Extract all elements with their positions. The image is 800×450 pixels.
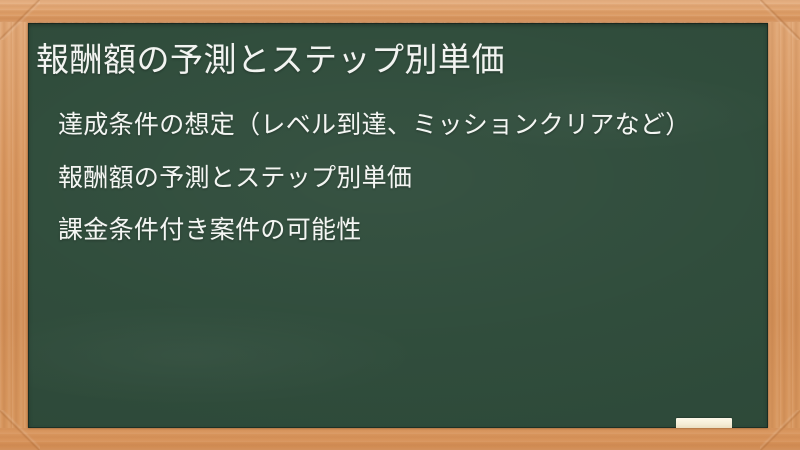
slide-title: 報酬額の予測とステップ別単価 — [36, 39, 736, 81]
bullet-list: 達成条件の想定（レベル到達、ミッションクリアなど） 報酬額の予測とステップ別単価… — [58, 109, 742, 247]
chalkboard-surface: 報酬額の予測とステップ別単価 達成条件の想定（レベル到達、ミッションクリアなど）… — [28, 23, 768, 428]
list-item: 達成条件の想定（レベル到達、ミッションクリアなど） — [58, 109, 742, 142]
frame-rail-top — [0, 0, 800, 22]
list-item: 報酬額の予測とステップ別単価 — [58, 162, 742, 195]
frame-rail-bottom — [0, 428, 800, 450]
blackboard-slide: 報酬額の予測とステップ別単価 達成条件の想定（レベル到達、ミッションクリアなど）… — [0, 0, 800, 450]
chalk-stick-icon — [676, 418, 732, 428]
list-item: 課金条件付き案件の可能性 — [58, 214, 742, 247]
